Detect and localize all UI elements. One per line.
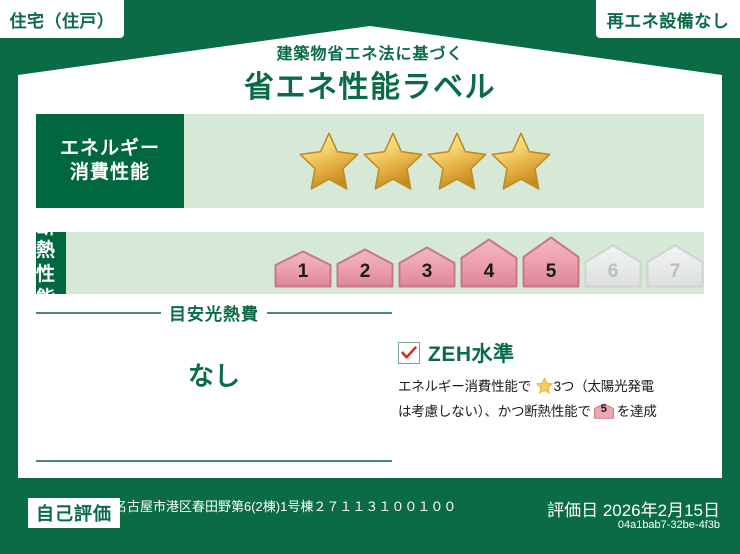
badge-building-type-label: 住宅（住戸） [10, 7, 115, 32]
energy-consumption-row: エネルギー 消費性能 [36, 114, 704, 208]
energy-label-line2: 消費性能 [70, 161, 150, 185]
property-address: 名古屋市港区春田野第6(2棟)1号棟２７１１３１００１００ [114, 498, 456, 517]
insulation-step-2: 2 [336, 248, 394, 288]
zeh-block: ZEH水準 エネルギー消費性能で 3つ（太陽光発電 は考慮しない）、かつ断熱性能… [398, 338, 708, 423]
insulation-step-4: 4 [460, 238, 518, 288]
star-icon [426, 130, 488, 192]
utility-cost-bottom-rule [36, 460, 392, 462]
insulation-row: 断熱性能 1234567 [36, 232, 704, 294]
evaluation-date-value: 2026年2月15日 [603, 501, 720, 520]
house-icon-inline-number: 5 [593, 401, 615, 419]
zeh-description: エネルギー消費性能で 3つ（太陽光発電 は考慮しない）、かつ断熱性能で 5 を達… [398, 376, 708, 423]
insulation-step-7: 7 [646, 244, 704, 288]
heading-rule-right [267, 312, 392, 314]
insulation-label-text: 断熱性能 [36, 216, 66, 311]
energy-label-root: 住宅（住戸） 再エネ設備なし 建築物省エネ法に基づく 省エネ性能ラベル エネルギ… [0, 0, 740, 554]
house-icon [398, 246, 456, 288]
page-title: 省エネ性能ラベル [0, 62, 740, 106]
badge-renewable-energy-label: 再エネ設備なし [607, 7, 730, 32]
star-rating [298, 130, 552, 192]
energy-consumption-value [184, 114, 704, 208]
zeh-heading: ZEH水準 [398, 338, 708, 368]
self-evaluation-badge: 自己評価 [28, 498, 120, 528]
insulation-step-6: 6 [584, 244, 642, 288]
zeh-desc-part3: を達成 [617, 404, 657, 419]
footer: 自己評価 名古屋市港区春田野第6(2棟)1号棟２７１１３１００１００ 評価日 2… [0, 486, 740, 554]
header-subtitle: 建築物省エネ法に基づく [0, 40, 740, 64]
evaluation-id: 04a1bab7-32be-4f3b [618, 519, 720, 531]
utility-cost-heading: 目安光熱費 [36, 300, 392, 325]
zeh-desc-part1: エネルギー消費性能で [398, 379, 531, 394]
insulation-label: 断熱性能 [36, 232, 66, 294]
insulation-step-1: 1 [274, 250, 332, 288]
star-icon [362, 130, 424, 192]
utility-cost-heading-text: 目安光熱費 [169, 300, 259, 325]
checkmark-icon [398, 342, 420, 364]
badge-building-type: 住宅（住戸） [0, 0, 124, 38]
house-icon [336, 248, 394, 288]
house-icon [460, 238, 518, 288]
house-icon [274, 250, 332, 288]
energy-consumption-label: エネルギー 消費性能 [36, 114, 184, 208]
house-icon [584, 244, 642, 288]
evaluation-date-label: 評価日 [547, 501, 598, 520]
house-icon-inline: 5 [593, 403, 615, 419]
house-icon [522, 236, 580, 288]
insulation-step-3: 3 [398, 246, 456, 288]
star-icon [298, 130, 360, 192]
energy-label-line1: エネルギー [60, 137, 160, 161]
star-icon [490, 130, 552, 192]
utility-cost-value: なし [36, 356, 392, 393]
insulation-step-5: 5 [522, 236, 580, 288]
evaluation-date: 評価日 2026年2月15日 [547, 496, 720, 521]
insulation-scale: 1234567 [274, 232, 704, 294]
star-icon-inline [532, 382, 553, 397]
zeh-desc-stars: 3つ（太陽光発電 [554, 379, 654, 394]
zeh-title: ZEH水準 [428, 338, 515, 368]
badge-renewable-energy: 再エネ設備なし [596, 0, 740, 38]
insulation-value: 1234567 [66, 232, 704, 294]
heading-rule-left [36, 312, 161, 314]
house-icon [646, 244, 704, 288]
zeh-desc-part2: は考慮しない）、かつ断熱性能で [398, 404, 591, 419]
